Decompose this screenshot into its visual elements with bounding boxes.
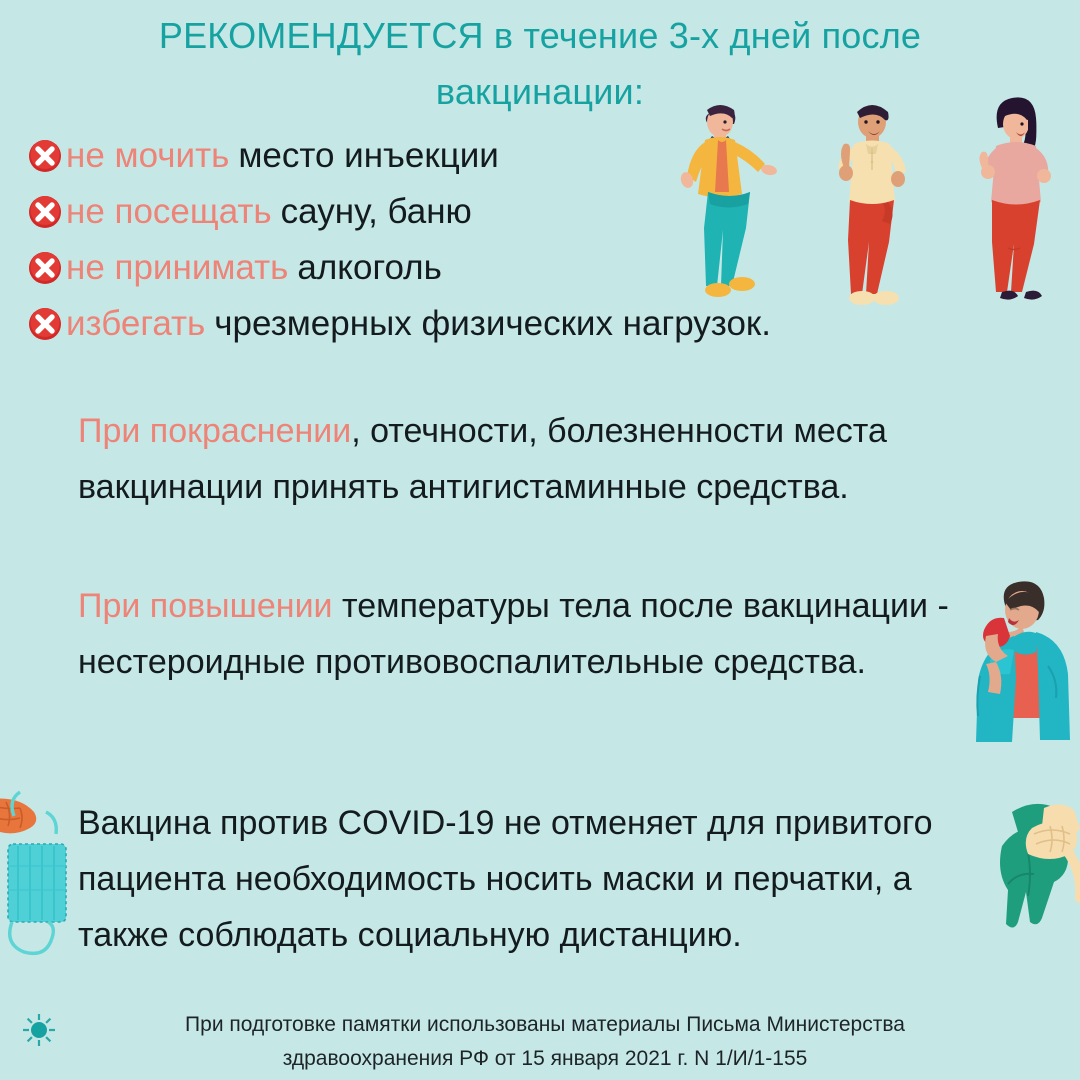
covid-text: Вакцина против COVID-19 не отменяет для …: [78, 804, 933, 954]
list-item-highlight: избегать: [66, 304, 205, 344]
list-item: не посещать сауну, баню: [26, 184, 1056, 240]
heading-line-2: вакцинации:: [60, 64, 1020, 120]
list-item-text: сауну, баню: [281, 192, 472, 232]
list-item-highlight: не посещать: [66, 192, 272, 232]
page-title: РЕКОМЕНДУЕТСЯ в течение 3-х дней после в…: [60, 8, 1020, 120]
list-item: избегать чрезмерных физических нагрузок.: [26, 296, 1056, 352]
covid-paragraph: Вакцина против COVID-19 не отменяет для …: [78, 795, 1008, 963]
list-item-text: место инъекции: [238, 136, 499, 176]
heading-line-1: РЕКОМЕНДУЕТСЯ в течение 3-х дней после: [60, 8, 1020, 64]
fever-paragraph: При повышении температуры тела после вак…: [78, 578, 1028, 690]
recommendation-list: не мочить место инъекции не посещать сау…: [26, 128, 1056, 352]
footer-source-note: При подготовке памятки использованы мате…: [40, 1008, 1050, 1076]
red-x-circle-icon: [26, 193, 64, 231]
red-x-circle-icon: [26, 249, 64, 287]
red-x-circle-icon: [26, 305, 64, 343]
red-x-circle-icon: [26, 137, 64, 175]
redness-highlight: При покраснении: [78, 412, 351, 450]
vaccination-infographic-poster: РЕКОМЕНДУЕТСЯ в течение 3-х дней после в…: [0, 0, 1080, 1080]
footer-line-1: При подготовке памятки использованы мате…: [40, 1008, 1050, 1042]
list-item: не принимать алкоголь: [26, 240, 1056, 296]
list-item: не мочить место инъекции: [26, 128, 1056, 184]
list-item-highlight: не мочить: [66, 136, 229, 176]
list-item-text: чрезмерных физических нагрузок.: [214, 304, 771, 344]
list-item-highlight: не принимать: [66, 248, 288, 288]
fever-highlight: При повышении: [78, 587, 333, 625]
footer-line-2: здравоохранения РФ от 15 января 2021 г. …: [40, 1042, 1050, 1076]
redness-paragraph: При покраснении, отечности, болезненност…: [78, 403, 1028, 515]
list-item-text: алкоголь: [297, 248, 441, 288]
